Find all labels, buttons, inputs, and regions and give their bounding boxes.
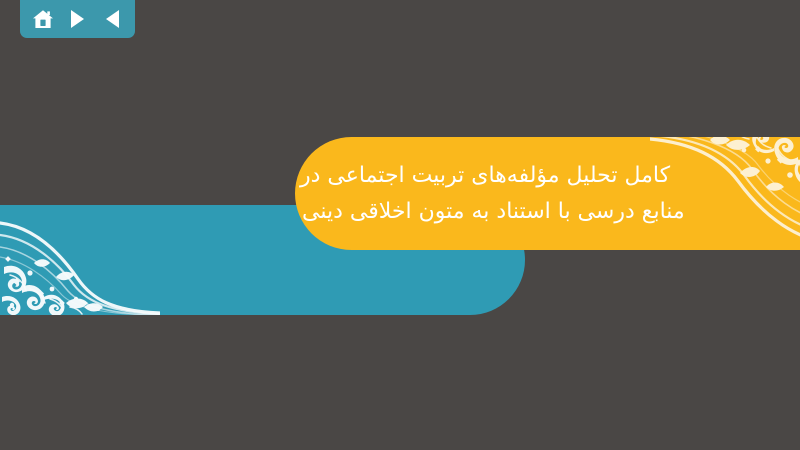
title-line-2: منابع درسی با استناد به متون اخلاقی دینی bbox=[300, 194, 685, 230]
home-button[interactable] bbox=[29, 5, 57, 33]
next-button[interactable] bbox=[64, 5, 92, 33]
triangle-right-icon bbox=[69, 9, 87, 29]
home-icon bbox=[32, 9, 54, 30]
title-line-1: کامل تحلیل مؤلفه‌های تربیت اجتماعی در bbox=[300, 158, 670, 194]
triangle-left-icon bbox=[103, 9, 121, 29]
slide-canvas: کامل تحلیل مؤلفه‌های تربیت اجتماعی در من… bbox=[0, 0, 800, 450]
previous-button[interactable] bbox=[98, 5, 126, 33]
arabesque-ornament-icon bbox=[0, 205, 160, 315]
slide-title: کامل تحلیل مؤلفه‌های تربیت اجتماعی در من… bbox=[300, 148, 725, 240]
navigation-bar bbox=[20, 0, 135, 38]
